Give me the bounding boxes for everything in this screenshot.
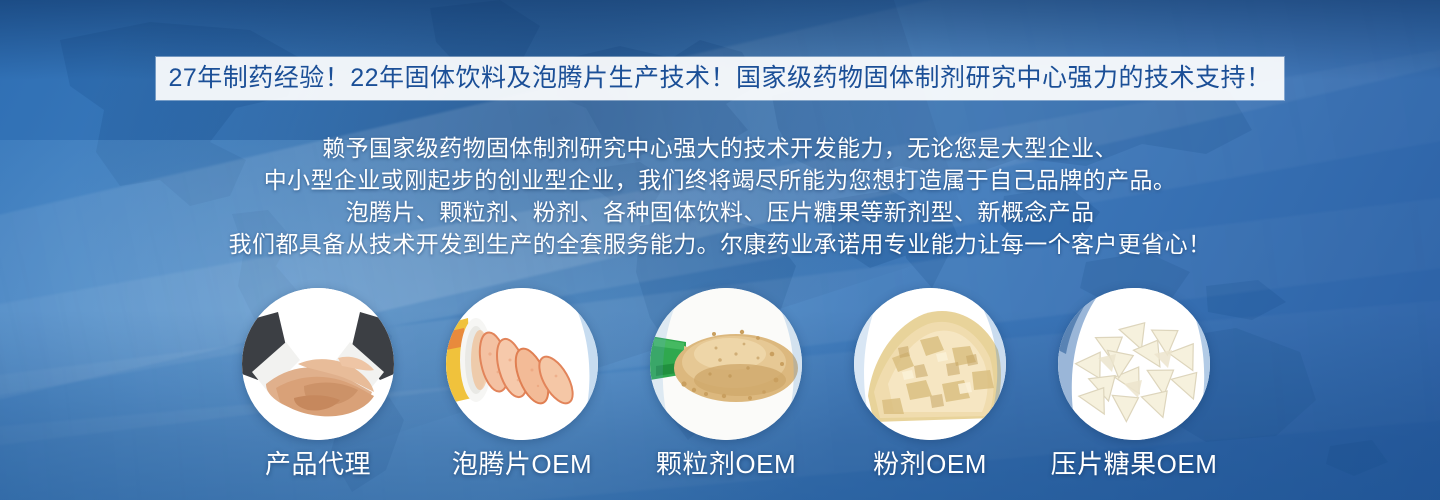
product-item-granules[interactable]: 颗粒剂OEM — [642, 288, 810, 480]
product-item-agency[interactable]: 产品代理 — [234, 288, 402, 480]
body-line-1: 赖予国家级药物固体制剂研究中心强大的技术开发能力，无论您是大型企业、 — [0, 132, 1440, 164]
banner-body-copy: 赖予国家级药物固体制剂研究中心强大的技术开发能力，无论您是大型企业、 中小型企业… — [0, 132, 1440, 260]
product-label-powder: 粉剂OEM — [873, 448, 987, 480]
product-item-powder[interactable]: 粉剂OEM — [846, 288, 1014, 480]
product-label-effervescent: 泡腾片OEM — [452, 448, 592, 480]
product-item-chewable[interactable]: 压片糖果OEM — [1050, 288, 1218, 480]
headline-row: 27年制药经验！22年固体饮料及泡腾片生产技术！国家级药物固体制剂研究中心强力的… — [0, 57, 1440, 100]
product-label-chewable: 压片糖果OEM — [1051, 448, 1218, 480]
product-list: 产品代理 — [0, 288, 1440, 500]
promo-banner: 27年制药经验！22年固体饮料及泡腾片生产技术！国家级药物固体制剂研究中心强力的… — [0, 0, 1440, 500]
banner-headline: 27年制药经验！22年固体饮料及泡腾片生产技术！国家级药物固体制剂研究中心强力的… — [156, 57, 1283, 100]
body-line-4: 我们都具备从技术开发到生产的全套服务能力。尔康药业承诺用专业能力让每一个客户更省… — [0, 228, 1440, 260]
product-label-agency: 产品代理 — [265, 448, 371, 480]
body-line-2: 中小型企业或刚起步的创业型企业，我们终将竭尽所能为您想打造属于自己品牌的产品。 — [0, 164, 1440, 196]
handshake-photo-icon — [242, 288, 394, 440]
chewable-tablets-photo-icon — [1058, 288, 1210, 440]
granules-photo-icon — [650, 288, 802, 440]
effervescent-tablets-photo-icon — [446, 288, 598, 440]
product-label-granules: 颗粒剂OEM — [656, 448, 796, 480]
powder-photo-icon — [854, 288, 1006, 440]
body-line-3: 泡腾片、颗粒剂、粉剂、各种固体饮料、压片糖果等新剂型、新概念产品 — [0, 196, 1440, 228]
product-item-effervescent[interactable]: 泡腾片OEM — [438, 288, 606, 480]
